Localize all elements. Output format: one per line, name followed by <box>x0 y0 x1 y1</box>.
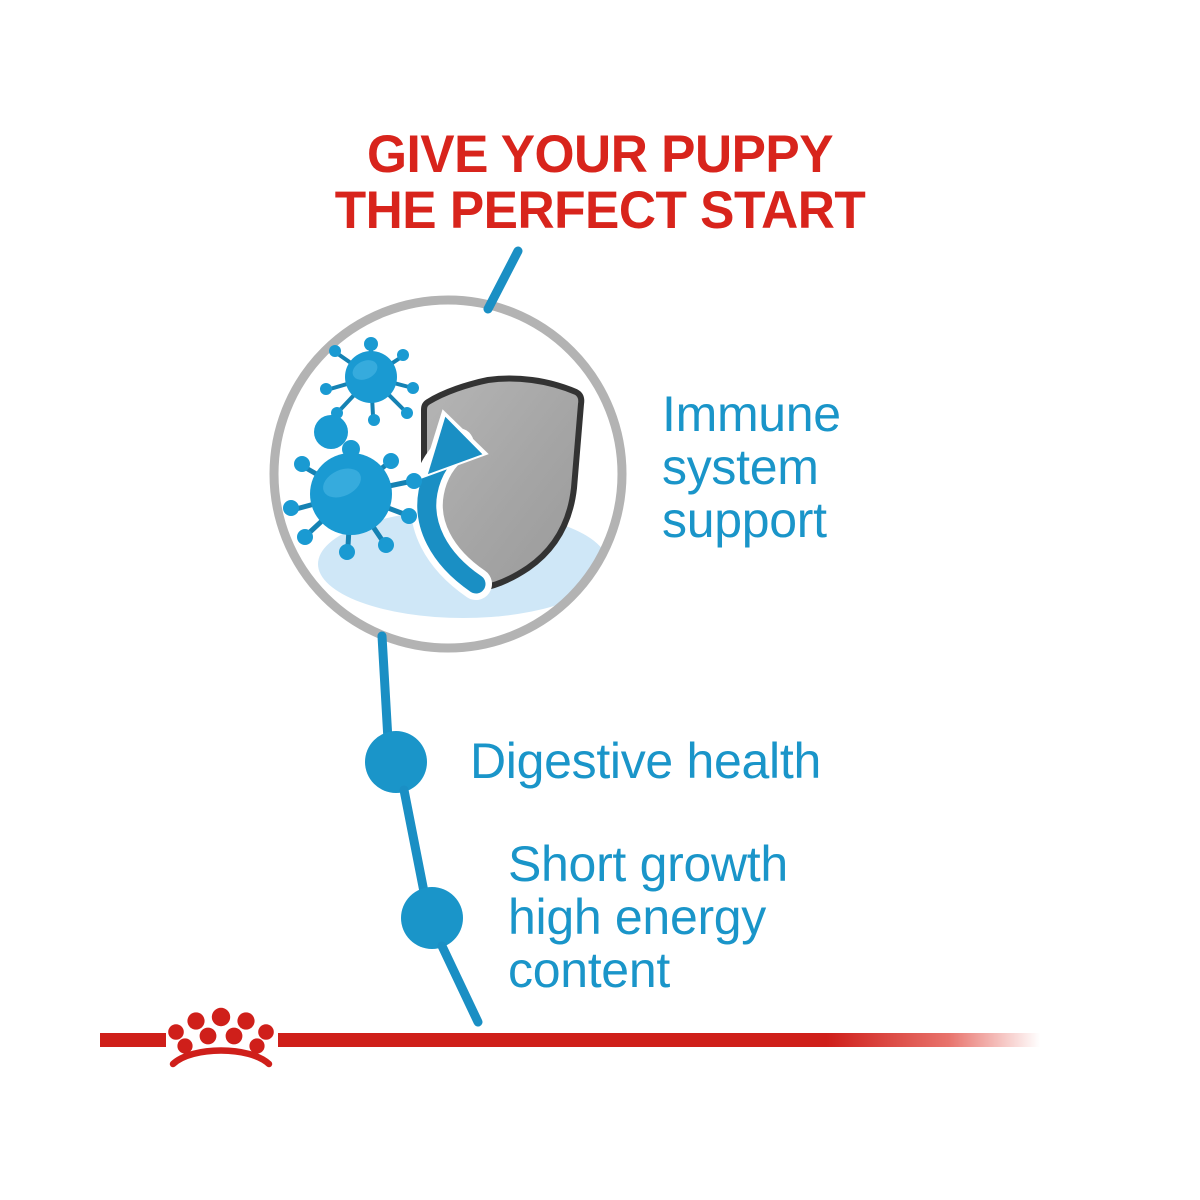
page-title: GIVE YOUR PUPPY THE PERFECT START <box>18 127 1182 239</box>
benefit-label-digestive: Digestive health <box>470 735 990 788</box>
connector-node-1 <box>365 731 427 793</box>
connector-node-2 <box>401 887 463 949</box>
brand-rule-left <box>100 1033 166 1047</box>
benefit-label-immune: Immune system support <box>662 388 1062 547</box>
germ-icon-small <box>320 337 419 426</box>
top-connector-stem <box>480 245 540 315</box>
brand-rule-right <box>278 1033 1040 1047</box>
germ-dot-icon <box>314 415 348 449</box>
poster-root: GIVE YOUR PUPPY THE PERFECT START <box>0 0 1200 1200</box>
immune-illustration <box>258 292 642 666</box>
benefit-label-growth: Short growth high energy content <box>508 838 948 997</box>
royal-canin-crown-icon <box>160 1005 282 1071</box>
